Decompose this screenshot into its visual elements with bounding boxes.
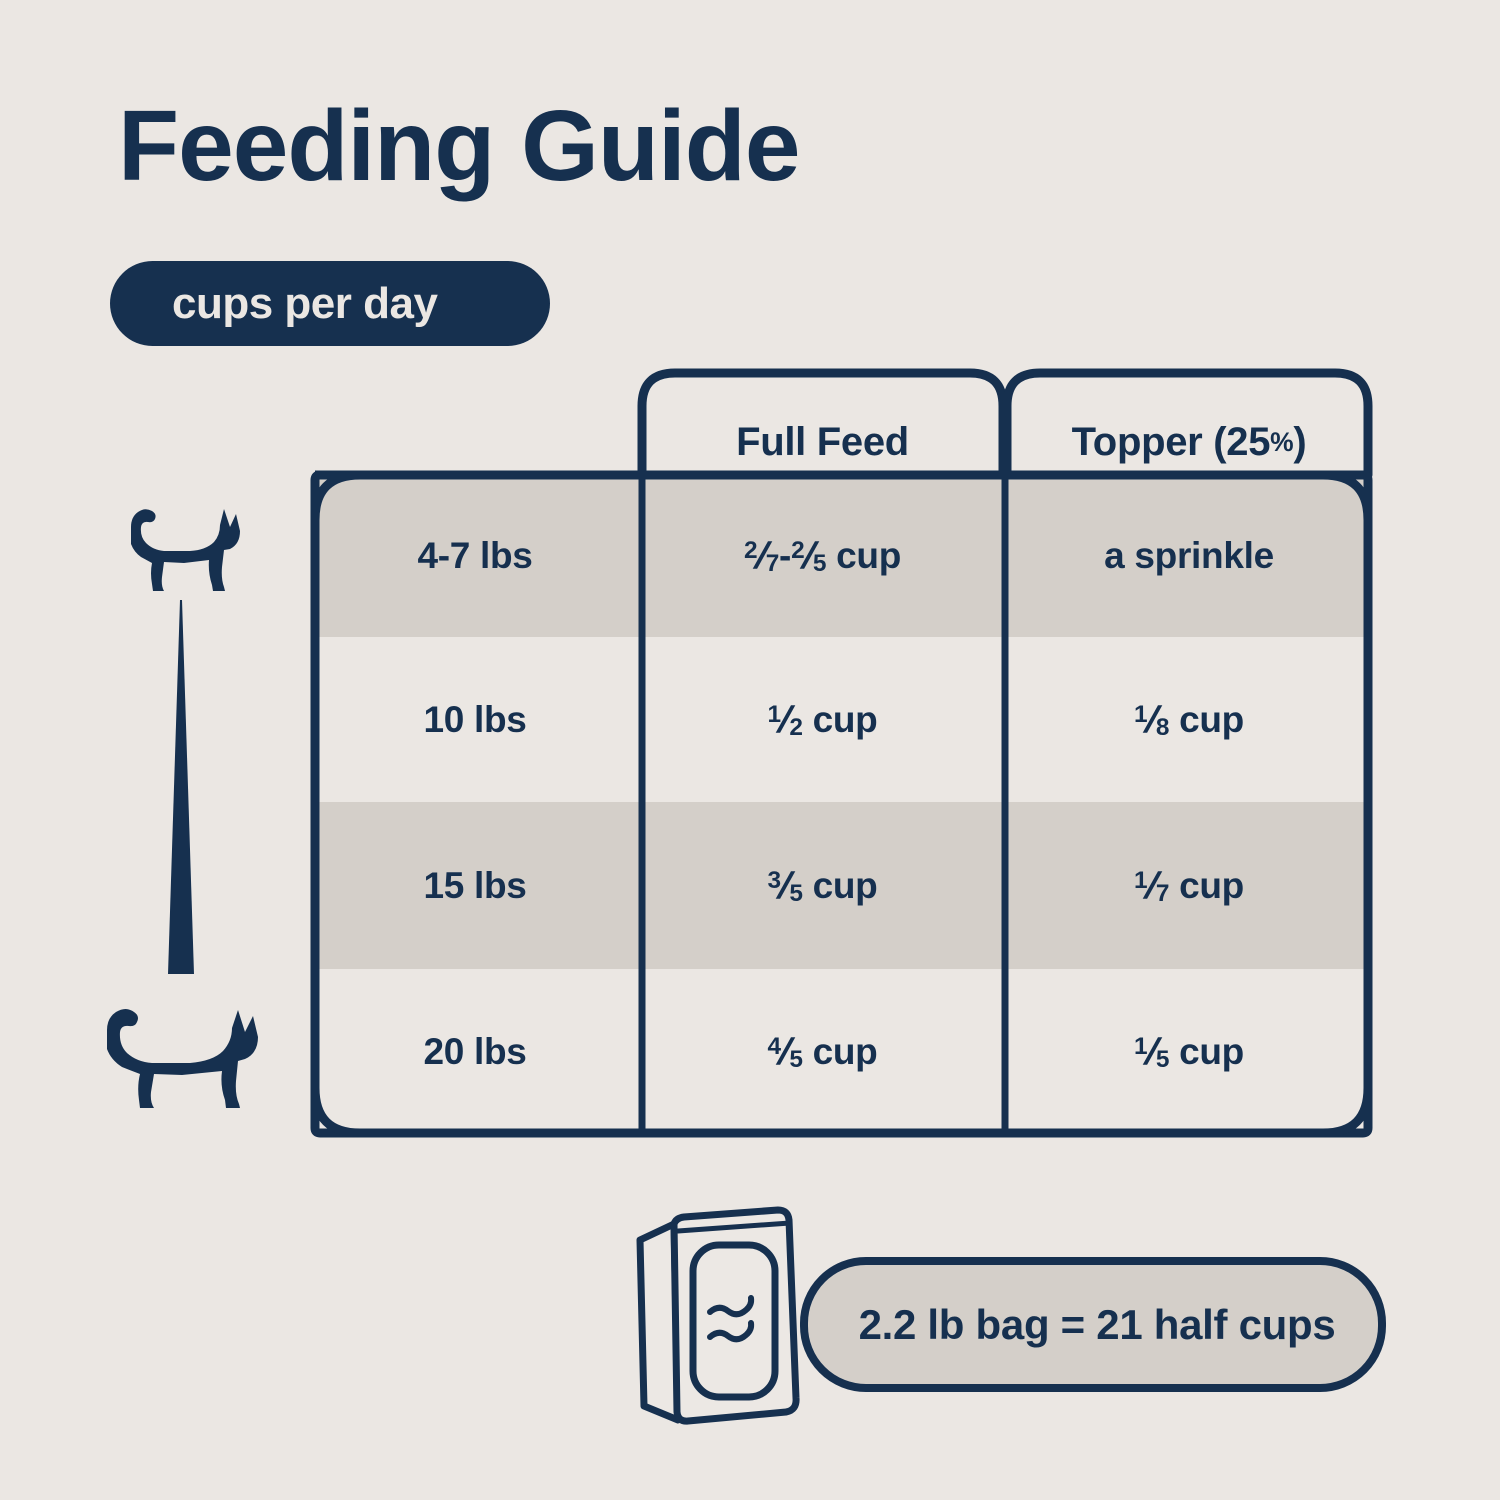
bag-label-panel — [693, 1245, 775, 1397]
table-row: 4-7 lbs — [310, 475, 640, 637]
column-header-topper-text: Topper (25 — [1072, 420, 1271, 465]
cat-silhouette-icon-large — [80, 988, 265, 1110]
table-row: 10 lbs — [310, 637, 640, 802]
fraction-value: 2/7 — [744, 535, 779, 577]
topper-text: a sprinkle — [1104, 535, 1274, 577]
unit-label: cup — [813, 699, 878, 741]
fraction-value: 4/5 — [768, 1031, 803, 1073]
unit-label: cup — [813, 1031, 878, 1073]
cell-full-feed: 3/5 cup — [640, 802, 1005, 969]
fraction-value: 1/2 — [768, 699, 803, 741]
cell-full-feed: 4/5 cup — [640, 969, 1005, 1135]
subtitle-badge: cups per day — [110, 261, 550, 346]
cell-full-feed: 1/2 cup — [640, 637, 1005, 802]
cell-topper: 1/7 cup — [1005, 802, 1373, 969]
feeding-table: Full Feed Topper (25%) 4-7 lbs 2/7-2/5 c… — [310, 368, 1373, 1138]
bag-callout: 2.2 lb bag = 21 half cups — [618, 1198, 1386, 1433]
fraction-value: 3/5 — [768, 865, 803, 907]
table-row: 15 lbs — [310, 802, 640, 969]
cell-weight: 15 lbs — [423, 865, 526, 907]
unit-label: cup — [813, 865, 878, 907]
unit-label: cup — [1179, 1031, 1244, 1073]
fraction-value-2: 2/5 — [791, 535, 826, 577]
cell-weight: 20 lbs — [423, 1031, 526, 1073]
cell-weight: 4-7 lbs — [417, 535, 532, 577]
unit-label: cup — [1179, 699, 1244, 741]
column-header-topper-paren: ) — [1293, 420, 1306, 465]
page-title: Feeding Guide — [118, 96, 799, 196]
range-separator: - — [779, 535, 791, 577]
fraction-value: 1/7 — [1134, 865, 1169, 907]
cell-weight: 10 lbs — [423, 699, 526, 741]
cell-topper: a sprinkle — [1005, 475, 1373, 637]
cell-full-feed: 2/7-2/5 cup — [640, 475, 1005, 637]
unit-label: cup — [836, 535, 901, 577]
cat-silhouette-icon-small — [112, 487, 242, 593]
table-row: 20 lbs — [310, 969, 640, 1135]
fraction-value: 1/5 — [1134, 1031, 1169, 1073]
size-scale-wedge-icon — [128, 600, 238, 980]
subtitle-badge-label: cups per day — [172, 279, 437, 329]
cell-topper: 1/5 cup — [1005, 969, 1373, 1135]
fraction-value: 1/8 — [1134, 699, 1169, 741]
cell-topper: 1/8 cup — [1005, 637, 1373, 802]
unit-label: cup — [1179, 865, 1244, 907]
banner-label: 2.2 lb bag = 21 half cups — [808, 1261, 1386, 1388]
